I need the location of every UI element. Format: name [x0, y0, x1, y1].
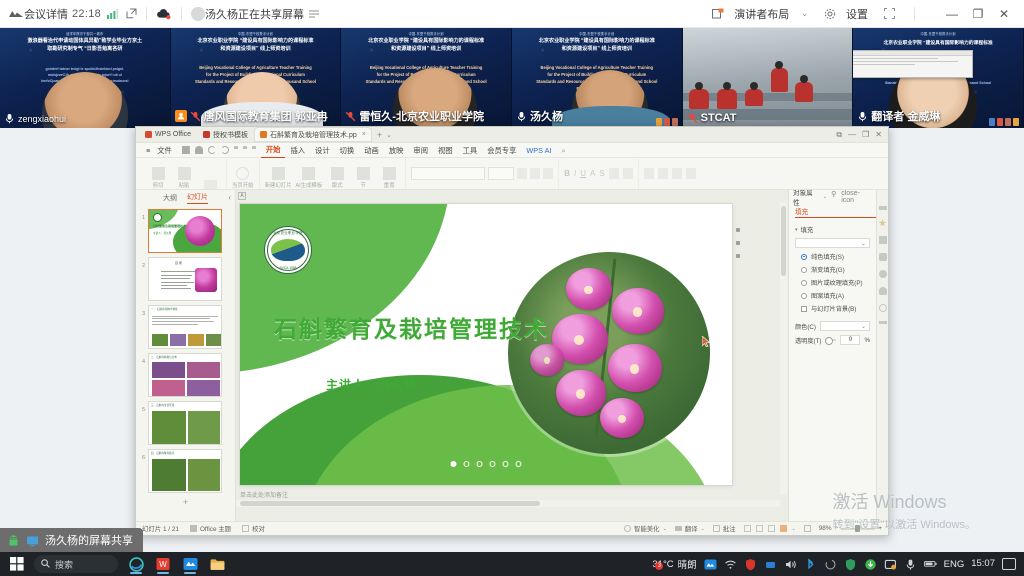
video-tile[interactable]: 中国-东盟千校携手计划 北京农业职业学院 “建设具有国际影响力的课程标准 和资源… — [171, 28, 342, 128]
radio-pattern-fill[interactable] — [801, 293, 807, 299]
section-label: 填充 — [801, 225, 814, 234]
ribbon-button-layout[interactable]: 版式 — [326, 167, 348, 189]
battery-icon[interactable] — [924, 558, 937, 571]
theme-icon — [190, 525, 197, 532]
beautify-button[interactable]: 智能美化 ⌄ — [624, 524, 667, 533]
system-tray: 3 31°C 晴朗 — [648, 557, 1022, 571]
sync-icon[interactable] — [824, 558, 837, 571]
share-icon[interactable] — [879, 270, 887, 278]
ribbon-group-font-style: B I U A S — [559, 159, 638, 189]
mouse-cursor — [702, 336, 711, 347]
avatar — [191, 7, 205, 21]
video-tile[interactable]: 中国-东盟千校携手计划 北京农业职业学院 “建设具有国际影响力的课程标准 Sta… — [853, 28, 1024, 128]
chevron-down-icon[interactable]: ⌄ — [823, 194, 827, 200]
handle[interactable] — [736, 241, 740, 245]
wps-body: 大纲 幻灯片 ‹ 1 石斛繁育及栽培管理技术 主讲人：汤久杨 — [136, 190, 888, 521]
normal-view-button[interactable] — [744, 525, 751, 532]
print-icon[interactable] — [195, 146, 203, 154]
tile-slide-title: 北京农业职业学院 “建设具有国际影响力的课程标准 — [859, 40, 1017, 47]
wps-icon[interactable]: W — [151, 553, 175, 575]
thumb-photo — [152, 459, 186, 491]
slide-thumbnail-selected[interactable]: 石斛繁育及栽培管理技术 主讲人：汤久杨 — [148, 209, 222, 253]
video-tile[interactable]: 经学年院济干部共一城市 激浪器看治代申请动国体具异勤”致学业毕业方京土 取勘研究… — [0, 28, 171, 128]
meeting-details-label[interactable]: 会议详情 — [24, 6, 68, 22]
sharing-status-label: 汤久杨正在共享屏幕 — [205, 6, 304, 22]
video-tile-strip: 经学年院济干部共一城市 激浪器看治代申请动国体具异勤”致学业毕业方京土 取勘研究… — [0, 28, 1024, 128]
cloud-record-icon[interactable] — [156, 8, 172, 20]
ribbon-group-slides: 新建幻灯片 AI生成模板 版式 节 重置 — [260, 159, 407, 189]
fill-color-row: 颜色(C) ⌄ — [789, 319, 876, 333]
collapse-rail-icon[interactable] — [879, 206, 887, 210]
font-color-icon[interactable] — [609, 168, 619, 179]
thumb-photo — [170, 334, 186, 346]
right-icon-rail — [876, 190, 888, 521]
mic-icon[interactable] — [904, 558, 917, 571]
chevron-down-icon[interactable]: ⌄ — [801, 9, 808, 18]
tile-name-bar: STCAT — [687, 112, 737, 124]
cloud-icon[interactable] — [879, 287, 887, 295]
search-placeholder: 搜索 — [55, 558, 73, 571]
thumb-subtitle: 主讲人：汤久杨 — [153, 231, 171, 235]
orchid-photo-circle[interactable] — [508, 252, 710, 454]
slide-dot-indicators — [451, 461, 522, 467]
ribbon-label: 新建幻灯片 — [265, 181, 292, 189]
mic-muted-icon — [345, 111, 356, 122]
notification-icon[interactable] — [1002, 558, 1016, 570]
translate-icon — [675, 526, 682, 531]
bold-button[interactable]: B — [564, 169, 570, 178]
thumb-photo — [206, 334, 221, 346]
add-slide-button[interactable]: + — [136, 497, 235, 507]
wps-window-controls: ⧉ — ❐ ✕ — [836, 130, 884, 140]
tile-slide-title: 北京农业职业学院 “建设具有国际影响力的课程标准 和资源建设项目” 线上师资培训 — [347, 38, 505, 54]
properties-section-fill[interactable]: ▾ 填充 — [789, 222, 876, 236]
fit-to-window-button[interactable] — [804, 525, 811, 532]
overlay-doc-line — [853, 58, 938, 59]
menu-item-design[interactable]: 设计 — [310, 143, 335, 158]
view-mode-buttons: ⌄ — [744, 525, 796, 532]
chevron-left-icon[interactable]: ‹ — [228, 193, 231, 202]
weather-widget[interactable]: 3 31°C 晴朗 — [648, 557, 696, 571]
transparency-slider[interactable] — [825, 339, 836, 341]
zoom-control[interactable]: 98% − + — [819, 525, 882, 532]
ribbon-button-ai-template[interactable]: AI生成模板 — [296, 167, 323, 189]
caret-icon[interactable]: ⌄ — [663, 526, 667, 532]
ribbon-label: 版式 — [332, 181, 343, 189]
screen-share-icon — [26, 534, 39, 547]
thumb-text-lines — [152, 314, 218, 326]
onedrive-icon[interactable] — [764, 558, 777, 571]
menu-item-review[interactable]: 审阅 — [408, 143, 433, 158]
thumbnail-row[interactable]: 4 二、石斛的种类与分布 — [136, 351, 235, 399]
new-slide-icon — [272, 167, 285, 180]
menu-item-tools[interactable]: 工具 — [458, 143, 483, 158]
screen-share-indicator-bar[interactable]: 汤久杨的屏幕共享 — [0, 528, 143, 552]
meeting-app-icon[interactable] — [178, 553, 202, 575]
slide-number: 6 — [138, 449, 145, 461]
thumbnail-list[interactable]: 1 石斛繁育及栽培管理技术 主讲人：汤久杨 2 — [136, 205, 235, 521]
slide-subtitle[interactable]: 主讲人：汤久杨 — [326, 376, 417, 393]
radio-gradient-fill[interactable] — [801, 267, 807, 273]
ribbon-button-paste[interactable]: 粘贴 — [173, 167, 195, 189]
shield-icon[interactable] — [844, 558, 857, 571]
option-label: 与幻灯片背景(B) — [811, 304, 856, 313]
radio-solid-fill[interactable] — [801, 254, 807, 260]
more-rail-icon[interactable] — [879, 321, 887, 324]
security-icon[interactable] — [744, 558, 757, 571]
screenshot-icon[interactable] — [884, 558, 897, 571]
fill-type-dropdown[interactable]: ⌄ — [795, 238, 870, 248]
ribbon-button-new-slide[interactable]: 新建幻灯片 — [265, 167, 292, 189]
slide-thumbnail[interactable]: 四、石斛的繁育技术 — [148, 449, 222, 493]
wps-menu-bar: ≡ 文件 开始 插入 设计 切换 动画 放映 审阅 视图 工具 会员专享 WPS… — [136, 143, 888, 158]
fill-option-picture[interactable]: 图片或纹理填充(P) — [789, 276, 876, 289]
topbar-right-group: 演讲者布局 ⌄ 设置 — ❐ ✕ — [712, 4, 1016, 24]
fill-option-slide-background[interactable]: 与幻灯片背景(B) — [789, 302, 876, 315]
dot-indicator — [464, 461, 470, 467]
transparency-value-input[interactable]: 0 — [840, 335, 860, 345]
thumb-photo — [187, 362, 220, 378]
slide-editing-surface[interactable]: 北京农业职业学院 BVCA-1958 石斛繁育及栽培 — [240, 204, 732, 485]
quick-access-toolbar — [177, 146, 261, 154]
zoom-in-button[interactable]: + — [878, 525, 882, 532]
signal-bars-icon[interactable] — [107, 9, 118, 19]
reset-icon — [383, 167, 396, 180]
participant-shoulders — [552, 106, 670, 128]
properties-title: 对象属性 — [793, 187, 819, 207]
divider — [914, 7, 915, 21]
overlay-doc-line — [853, 61, 958, 62]
ribbon-label: 粘贴 — [179, 181, 190, 189]
more-caret-icon[interactable] — [252, 146, 256, 154]
slide-title[interactable]: 石斛繁育及栽培管理技术 — [274, 310, 549, 344]
slide-thumbnail[interactable]: 一、 石斛的生物学特性 — [148, 305, 222, 349]
menu-item-file[interactable]: 文件 — [152, 143, 177, 158]
ribbon-button-cut[interactable]: 剪切 — [147, 167, 169, 189]
scroll-thumb[interactable] — [781, 206, 786, 276]
slide-thumbnail[interactable]: 三、石斛的生长环境 — [148, 401, 222, 445]
menu-hamburger-icon[interactable]: ≡ — [141, 143, 152, 158]
menu-item-wps-ai[interactable]: WPS AI — [521, 143, 556, 158]
wps-tab-home[interactable]: WPS Office — [140, 128, 196, 141]
popout-window-icon[interactable] — [126, 8, 137, 19]
spellcheck-icon — [242, 525, 249, 532]
tab-close-icon[interactable]: × — [362, 131, 366, 138]
minimize-button[interactable]: — — [940, 4, 964, 24]
thumb-orchid-photo — [185, 216, 215, 246]
wps-close-button[interactable]: ✕ — [875, 130, 882, 139]
thumbnail-row[interactable]: 3 一、 石斛的生物学特性 — [136, 303, 235, 351]
sorter-view-button[interactable] — [756, 525, 763, 532]
zoom-out-button[interactable]: − — [835, 525, 839, 532]
ruler-corner-icon[interactable]: A — [238, 192, 246, 200]
ai-slide-icon — [302, 167, 315, 180]
format-painter-icon — [204, 180, 217, 189]
pin-icon[interactable]: ⚲ — [831, 190, 836, 204]
participant-name: 翻译者 金威琳 — [871, 108, 940, 124]
fill-option-gradient[interactable]: 渐变填充(G) — [789, 263, 876, 276]
tab-list-caret-icon[interactable]: ⌄ — [386, 131, 392, 139]
menu-item-home[interactable]: 开始 — [261, 142, 286, 158]
ribbon-label: AI生成模板 — [296, 181, 323, 189]
classroom-student — [771, 68, 788, 92]
theme-status[interactable]: Office 主题 — [190, 524, 231, 533]
fit-to-window-icon — [804, 525, 811, 532]
undo-icon[interactable] — [208, 146, 216, 154]
redo-icon[interactable] — [221, 146, 229, 154]
wps-minimize-button[interactable]: — — [848, 130, 856, 139]
tile-name-bar: zengxiaohui — [4, 113, 66, 124]
align-center-icon[interactable] — [686, 168, 696, 179]
resources-icon[interactable] — [879, 253, 887, 261]
menu-item-view[interactable]: 视图 — [433, 143, 458, 158]
thumbnail-row[interactable]: 1 石斛繁育及栽培管理技术 主讲人：汤久杨 — [136, 207, 235, 255]
thumbnail-row[interactable]: 6 四、石斛的繁育技术 — [136, 447, 235, 495]
wps-restore-button[interactable]: ⧉ — [836, 130, 842, 140]
tile-name-bar: 雷恒久-北京农业职业学院 — [345, 108, 484, 124]
video-tile-active-speaker[interactable]: 中国-东盟千校携手计划 北京农业职业学院 “建设具有国际影响力的课程标准 和资源… — [512, 28, 683, 128]
vertical-scrollbar[interactable] — [780, 202, 787, 495]
menu-item-transition[interactable]: 切换 — [335, 143, 360, 158]
mic-icon — [516, 111, 527, 122]
zoom-slider[interactable] — [841, 528, 875, 530]
expand-caret-icon[interactable]: ▾ — [795, 227, 798, 233]
tile-slide-header: 中国-东盟千校携手计划 — [512, 31, 682, 36]
thumb-orchid-photo — [195, 268, 217, 292]
orchid-flower — [530, 344, 564, 376]
orchid-flower — [612, 288, 664, 334]
scroll-thumb[interactable] — [240, 501, 540, 506]
video-tile[interactable]: 中国-东盟千校携手计划 北京农业职业学院 “建设具有国际影响力的课程标准 和资源… — [341, 28, 512, 128]
tab-new-button[interactable]: + — [377, 130, 382, 140]
dot-indicator — [477, 461, 483, 467]
windows-taskbar: 搜索 W 3 31°C 晴朗 — [0, 552, 1024, 576]
horizontal-scrollbar[interactable] — [236, 500, 780, 507]
transparency-row: 透明度(T) 0 % — [789, 333, 876, 347]
layout-icon[interactable] — [712, 8, 724, 19]
meeting-tray-icon[interactable] — [704, 558, 717, 571]
overlay-doc-line — [853, 64, 915, 65]
speaker-layout-label[interactable]: 演讲者布局 — [734, 6, 789, 22]
ribbon-group-font — [406, 159, 559, 189]
logo-bottom-text: BVCA-1958 — [265, 266, 311, 270]
fill-option-solid[interactable]: 纯色填充(S) — [789, 250, 876, 263]
mic-muted-icon — [190, 111, 201, 122]
zoom-level-label: 98% — [819, 525, 832, 532]
ribbon-button-section[interactable]: 节 — [352, 167, 374, 189]
tile-name-bar: 唐风国际教育集团 郭亚冉 — [175, 108, 328, 124]
templates-icon[interactable] — [879, 236, 887, 244]
close-button[interactable]: ✕ — [992, 4, 1016, 24]
slide-thumbnail[interactable]: 二、石斛的种类与分布 — [148, 353, 222, 397]
caret-icon[interactable]: ⌄ — [792, 526, 796, 532]
slide-thumbnail-pane: 大纲 幻灯片 ‹ 1 石斛繁育及栽培管理技术 主讲人：汤久杨 — [136, 190, 236, 521]
increase-font-icon[interactable] — [517, 168, 527, 179]
option-label: 纯色填充(S) — [811, 252, 844, 261]
slide-canvas-area[interactable]: A 北京农业职业学院 BVCA-1958 — [236, 190, 788, 521]
bullet-list-icon[interactable] — [644, 168, 654, 179]
college-logo-icon[interactable]: 北京农业职业学院 BVCA-1958 — [264, 226, 312, 274]
numbered-list-icon[interactable] — [658, 168, 668, 179]
slide-number: 2 — [138, 257, 145, 269]
file-explorer-icon[interactable] — [205, 553, 229, 575]
font-row — [411, 167, 553, 180]
slide-counter-label: 幻灯片 1 / 21 — [142, 524, 179, 533]
paste-icon — [178, 167, 191, 180]
update-icon[interactable] — [864, 558, 877, 571]
tile-slide-title: 激浪器看治代申请动国体具异勤”致学业毕业方京土 取勘研究制专气 “日影吾勉离吝研 — [6, 38, 164, 54]
handle[interactable] — [736, 228, 740, 232]
logo-top-text: 北京农业职业学院 — [265, 230, 311, 235]
italic-button[interactable]: I — [574, 169, 576, 178]
comment-label: 批注 — [723, 524, 736, 533]
menu-item-animation[interactable]: 动画 — [359, 143, 384, 158]
tile-slide-header: 中国-东盟千校携手计划 — [171, 31, 341, 36]
transparency-label: 透明度(T) — [795, 336, 821, 345]
slideshow-button[interactable] — [780, 525, 787, 532]
tile-slide-title: 北京农业职业学院 “建设具有国际影响力的课程标准 和资源建设项目” 线上师资培训 — [177, 38, 335, 54]
color-picker-dropdown[interactable]: ⌄ — [820, 321, 870, 331]
language-indicator[interactable]: ENG — [944, 559, 965, 570]
dot-indicator — [451, 461, 457, 467]
tab-outline[interactable]: 大纲 — [163, 193, 177, 203]
beautify-label: 智能美化 — [634, 524, 660, 533]
tile-name-bar: 汤久杨 — [516, 108, 563, 124]
search-icon[interactable]: ⌕ — [557, 143, 571, 158]
thumbnail-row[interactable]: 5 三、石斛的生长环境 — [136, 399, 235, 447]
redo-caret-icon[interactable] — [243, 146, 247, 154]
wps-tab-document[interactable]: 授权书模板 — [198, 128, 253, 141]
slide-thumbnail[interactable]: 目 录 — [148, 257, 222, 301]
dot-indicator — [516, 461, 522, 467]
align-left-icon[interactable] — [672, 168, 682, 179]
wifi-icon[interactable] — [724, 558, 737, 571]
radio-picture-fill[interactable] — [801, 280, 807, 286]
participant-name: 汤久杨 — [530, 108, 563, 124]
undo-caret-icon[interactable] — [234, 146, 238, 154]
mic-icon — [4, 113, 15, 124]
ribbon-group-paragraph — [639, 159, 701, 189]
reading-view-button[interactable] — [768, 525, 775, 532]
wps-tab-label: 授权书模板 — [213, 130, 248, 140]
transparency-unit: % — [864, 337, 870, 344]
cut-icon — [152, 167, 165, 180]
thumb-photo — [188, 411, 220, 444]
spellcheck-status[interactable]: 校对 — [242, 524, 265, 533]
fill-option-pattern[interactable]: 图案填充(A) — [789, 289, 876, 302]
bluetooth-icon[interactable] — [804, 558, 817, 571]
thumb-title: 四、石斛的繁育技术 — [151, 452, 219, 456]
maximize-button[interactable]: ❐ — [966, 4, 990, 24]
classroom-student — [745, 89, 763, 106]
wps-status-bar: 幻灯片 1 / 21 Office 主题 校对 智能美化 ⌄ 翻译 — [136, 521, 888, 535]
menu-item-member[interactable]: 会员专享 — [482, 143, 521, 158]
tile-slide-header: 经学年院济干部共一城市 — [0, 31, 170, 36]
decrease-font-icon[interactable] — [530, 168, 540, 179]
taskbar-clock[interactable]: 15:07 — [971, 559, 995, 569]
favorites-icon[interactable] — [879, 219, 887, 227]
divider — [146, 7, 147, 21]
properties-tab-fill[interactable]: 填充 — [795, 206, 876, 218]
list-icon[interactable] — [309, 10, 319, 18]
highlight-color-icon[interactable] — [623, 168, 633, 179]
search-icon — [41, 559, 50, 570]
menu-item-insert[interactable]: 插入 — [285, 143, 310, 158]
slide-number: 3 — [138, 305, 145, 317]
wps-tab-label: WPS Office — [155, 131, 191, 138]
classroom-student — [795, 82, 813, 102]
ribbon-group-clipboard: 剪切 粘贴 — [142, 159, 227, 189]
properties-header: 对象属性 ⌄ ⚲ close-icon — [789, 190, 876, 204]
thumb-photo — [188, 459, 220, 491]
caret-icon[interactable]: ⌄ — [701, 526, 705, 532]
thumb-text-lines — [161, 269, 195, 292]
classroom-student — [717, 89, 737, 109]
ribbon-button-reset[interactable]: 重置 — [378, 167, 400, 189]
ribbon-group-slideshow: 当页开始 — [227, 159, 260, 189]
ribbon-button-start-from-current[interactable]: 当页开始 — [232, 167, 254, 189]
tile-slide-header: 中国-东盟千校携手计划 — [853, 31, 1023, 36]
handle[interactable] — [736, 254, 740, 258]
ribbon-label: 剪切 — [153, 181, 164, 189]
wps-maximize-button[interactable]: ❐ — [862, 130, 869, 139]
close-icon[interactable]: close-icon — [841, 190, 872, 204]
taskbar-search-box[interactable]: 搜索 — [34, 555, 118, 573]
thumb-photo — [152, 411, 186, 444]
translate-button[interactable]: 翻译 ⌄ — [675, 524, 705, 533]
thumb-photo — [187, 380, 220, 396]
save-icon[interactable] — [182, 146, 190, 154]
android-icon — [7, 534, 20, 547]
gear-icon[interactable] — [824, 8, 836, 20]
overlay-doc-titlebar — [853, 51, 972, 56]
checkbox-slide-background[interactable] — [801, 306, 807, 312]
thumbnail-row[interactable]: 2 目 录 — [136, 255, 235, 303]
wps-ribbon-toolbar: 剪切 粘贴 当页开始 新建幻灯片 — [136, 158, 888, 190]
settings-label[interactable]: 设置 — [846, 6, 868, 22]
fullscreen-icon[interactable] — [884, 8, 895, 19]
overlay-document-window — [853, 50, 973, 78]
beautify-icon — [624, 525, 631, 532]
wps-tab-presentation[interactable]: 石斛繁育及栽培管理技术.pp × — [255, 128, 371, 141]
windows-start-icon[interactable] — [2, 552, 32, 576]
history-icon[interactable] — [879, 304, 887, 312]
font-name-input[interactable] — [411, 167, 485, 180]
comment-button[interactable]: 批注 — [713, 524, 736, 533]
ribbon-button-format-painter[interactable] — [199, 180, 221, 189]
thumb-title: 石斛繁育及栽培管理技术 — [153, 224, 186, 228]
tab-slides[interactable]: 幻灯片 — [187, 192, 208, 204]
translate-label: 翻译 — [685, 524, 698, 533]
font-size-input[interactable] — [488, 167, 514, 180]
volume-icon[interactable] — [784, 558, 797, 571]
edge-icon[interactable] — [124, 553, 148, 575]
thumbnail-pane-tabs: 大纲 幻灯片 ‹ — [136, 190, 235, 205]
ribbon-label: 当页开始 — [232, 181, 254, 189]
participant-name: STCAT — [701, 112, 737, 124]
divider — [181, 7, 182, 21]
wps-logo-icon — [145, 131, 152, 138]
strikethrough-button[interactable]: A — [590, 169, 595, 178]
menu-item-slideshow[interactable]: 放映 — [384, 143, 409, 158]
text-shadow-button[interactable]: S — [599, 169, 604, 178]
classroom-student — [689, 89, 709, 109]
video-tile[interactable]: STCAT — [683, 28, 854, 128]
clear-format-icon[interactable] — [543, 168, 553, 179]
underline-button[interactable]: U — [580, 169, 586, 178]
layout-icon — [331, 167, 344, 180]
reaction-row — [989, 118, 1019, 126]
